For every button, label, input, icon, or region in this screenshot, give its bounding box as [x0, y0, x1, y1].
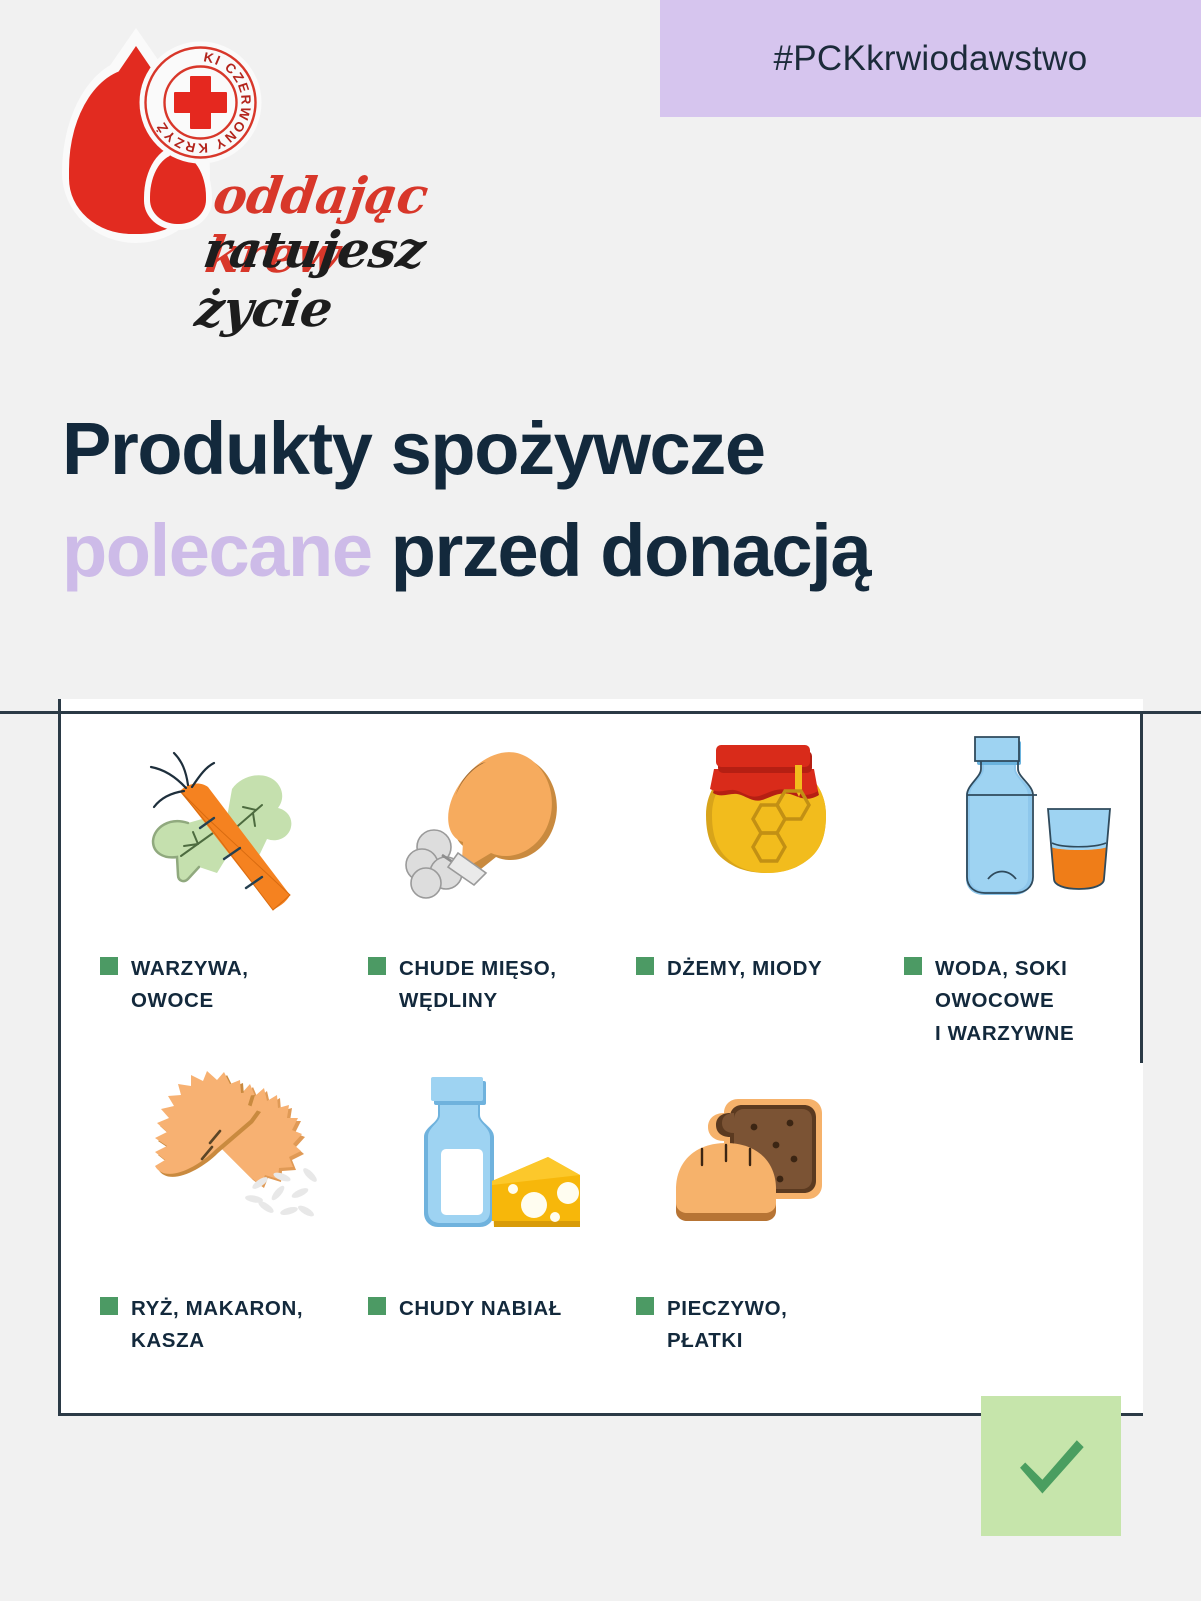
bullet-square-icon [636, 957, 654, 975]
product-item: DŻEMY, MIODY [636, 731, 904, 1071]
pasta-bow-rice-icon [114, 1071, 344, 1256]
product-label-text: PIECZYWO, PŁATKI [667, 1293, 787, 1358]
pck-logo: POLSKI CZERWONY KRZYŻ oddając krew ratuj… [62, 40, 562, 280]
bullet-square-icon [100, 1297, 118, 1315]
product-label-text: RYŻ, MAKARON, KASZA [131, 1293, 303, 1358]
product-label: CHUDY NABIAŁ [368, 1293, 562, 1325]
product-item: CHUDE MIĘSO, WĘDLINY [368, 731, 636, 1071]
product-label-text: DŻEMY, MIODY [667, 953, 822, 985]
product-label: WODA, SOKI OWOCOWE I WARZYWNE [904, 953, 1074, 1050]
red-cross-icon: POLSKI CZERWONY KRZYŻ [138, 40, 263, 165]
checkmark-icon [1008, 1423, 1094, 1509]
bullet-square-icon [636, 1297, 654, 1315]
product-label-text: WARZYWA, OWOCE [131, 953, 249, 1018]
chicken-drumstick-icon [382, 731, 612, 916]
product-item: RYŻ, MAKARON, KASZA [100, 1071, 368, 1411]
product-label: WARZYWA, OWOCE [100, 953, 249, 1018]
red-cross-emblem: POLSKI CZERWONY KRZYŻ [138, 40, 263, 165]
milk-bottle-cheese-icon [382, 1071, 612, 1256]
product-item: WARZYWA, OWOCE [100, 731, 368, 1071]
product-item: WODA, SOKI OWOCOWE I WARZYWNE [904, 731, 1172, 1071]
recommended-products-grid: WARZYWA, OWOCE CHUDE MIĘSO, WĘDLINY [58, 699, 1143, 1416]
page-title: Produkty spożywcze polecane przed donacj… [62, 398, 1082, 602]
bullet-square-icon [368, 957, 386, 975]
bullet-square-icon [100, 957, 118, 975]
hashtag-badge: #PCKkrwiodawstwo [660, 0, 1201, 117]
product-label-text: CHUDY NABIAŁ [399, 1293, 562, 1325]
bullet-square-icon [368, 1297, 386, 1315]
honey-jar-icon [650, 731, 880, 916]
page-title-line2: polecane przed donacją [62, 500, 1082, 602]
page-title-line1: Produkty spożywcze [62, 398, 1082, 500]
product-item: CHUDY NABIAŁ [368, 1071, 636, 1411]
page-title-line2-rest: przed donacją [372, 509, 871, 592]
page-title-accent: polecane [62, 509, 372, 592]
bullet-square-icon [904, 957, 922, 975]
status-badge [981, 1396, 1121, 1536]
hashtag-text: #PCKkrwiodawstwo [773, 39, 1087, 79]
logo-slogan-line2: ratujesz życie [192, 220, 571, 338]
product-label: PIECZYWO, PŁATKI [636, 1293, 787, 1358]
product-item: PIECZYWO, PŁATKI [636, 1071, 904, 1411]
product-label-text: WODA, SOKI OWOCOWE I WARZYWNE [935, 953, 1074, 1050]
carrot-vegetables-icon [114, 731, 344, 916]
product-label: DŻEMY, MIODY [636, 953, 822, 985]
water-bottle-juice-glass-icon [918, 731, 1148, 916]
product-label: CHUDE MIĘSO, WĘDLINY [368, 953, 557, 1018]
bread-loaf-toast-icon [650, 1071, 880, 1256]
product-label: RYŻ, MAKARON, KASZA [100, 1293, 303, 1358]
product-label-text: CHUDE MIĘSO, WĘDLINY [399, 953, 557, 1018]
grid-empty-cell [904, 1071, 1172, 1411]
